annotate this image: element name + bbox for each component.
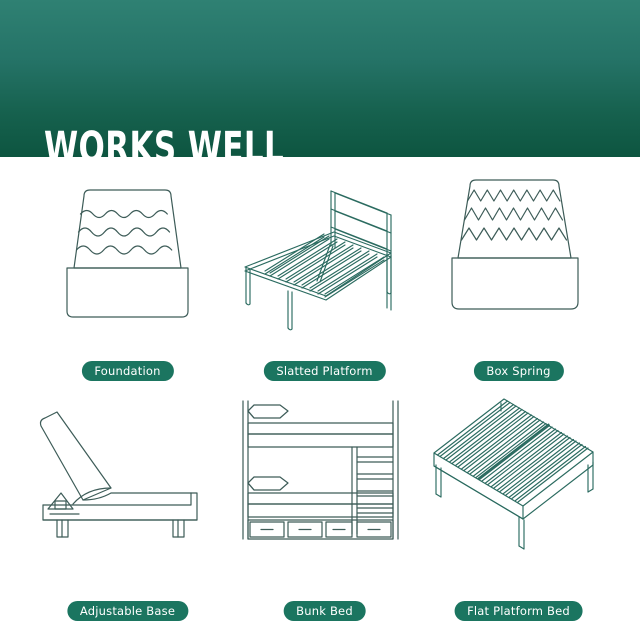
slatted-platform-bed-icon (218, 168, 431, 358)
base-label-bunk-bed: Bunk Bed (283, 601, 366, 621)
base-item-flat-platform-bed[interactable]: Flat Platform Bed (412, 389, 625, 617)
base-item-foundation[interactable]: Foundation (21, 168, 234, 396)
base-label-adjustable-base: Adjustable Base (67, 601, 188, 621)
bases-grid: Foundation (0, 157, 640, 640)
header-banner: WORKS WELL WITH THESE BASES (0, 0, 640, 157)
base-item-bunk-bed[interactable]: Bunk Bed (218, 389, 431, 617)
adjustable-base-icon (21, 389, 234, 579)
bunk-bed-icon (218, 389, 431, 579)
base-item-adjustable-base[interactable]: Adjustable Base (21, 389, 234, 617)
base-item-slatted-platform[interactable]: Slatted Platform (218, 168, 431, 396)
base-label-box-spring: Box Spring (473, 361, 563, 381)
base-item-box-spring[interactable]: Box Spring (412, 168, 625, 396)
box-spring-icon (412, 168, 625, 358)
base-label-foundation: Foundation (81, 361, 173, 381)
flat-platform-bed-icon (412, 389, 625, 579)
base-label-flat-platform-bed: Flat Platform Bed (454, 601, 583, 621)
base-label-slatted-platform: Slatted Platform (263, 361, 385, 381)
infographic-page: WORKS WELL WITH THESE BASES Foundation (0, 0, 640, 640)
foundation-mattress-icon (21, 168, 234, 358)
